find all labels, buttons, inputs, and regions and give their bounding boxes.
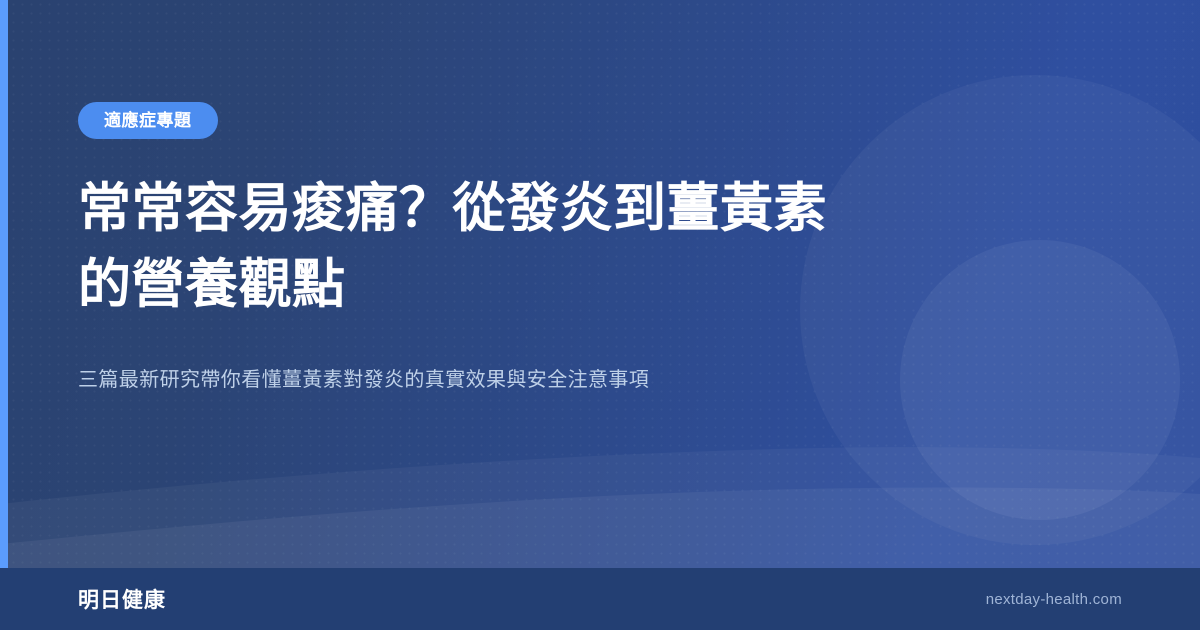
decorative-wave-back <box>0 428 1200 568</box>
page-title-line-2: 的營養觀點 <box>78 255 346 314</box>
page-title-line-1: 常常容易痠痛？從發炎到薑黃素 <box>78 179 827 238</box>
card-content: 適應症專題 常常容易痠痛？從發炎到薑黃素 的營養觀點 三篇最新研究帶你看懂薑黃素… <box>78 102 958 395</box>
left-accent-bar <box>0 0 8 568</box>
page-title: 常常容易痠痛？從發炎到薑黃素 的營養觀點 <box>78 171 908 323</box>
card-footer: 明日健康 nextday-health.com <box>0 568 1200 630</box>
og-card: 適應症專題 常常容易痠痛？從發炎到薑黃素 的營養觀點 三篇最新研究帶你看懂薑黃素… <box>0 0 1200 630</box>
footer-site-url: nextday-health.com <box>986 591 1122 608</box>
footer-brand-name: 明日健康 <box>78 584 166 614</box>
decorative-wave-front <box>0 428 1200 568</box>
category-badge[interactable]: 適應症專題 <box>78 102 218 139</box>
page-subtitle: 三篇最新研究帶你看懂薑黃素對發炎的真實效果與安全注意事項 <box>78 365 958 395</box>
